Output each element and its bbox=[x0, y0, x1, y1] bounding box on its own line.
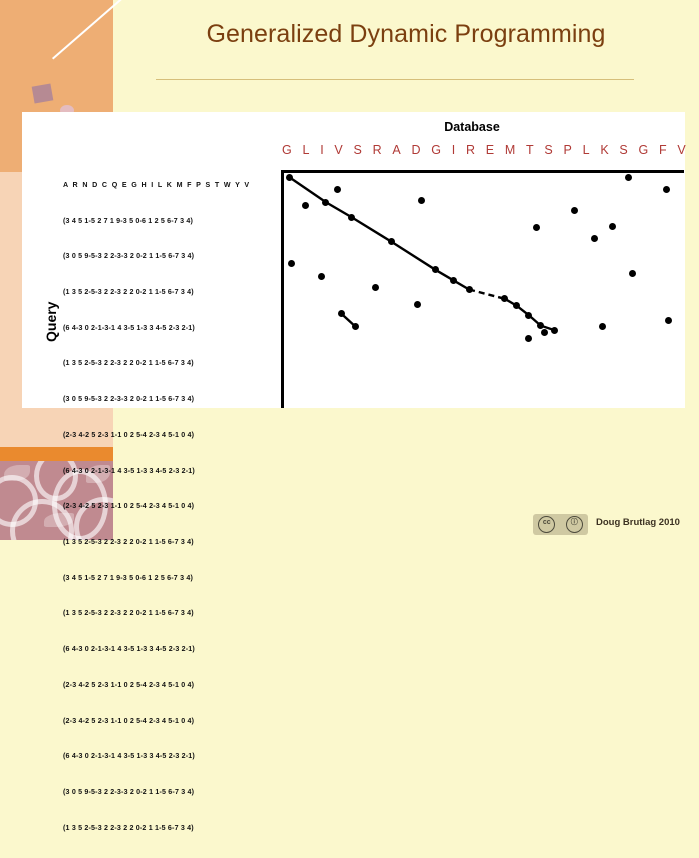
dot-plot-point bbox=[348, 214, 355, 221]
author-credit: Doug Brutlag 2010 bbox=[596, 517, 680, 528]
dot-plot-point bbox=[551, 327, 558, 334]
dot-plot-point bbox=[352, 323, 359, 330]
content-panel: Query A R N D C Q E G H I L K M F P S T … bbox=[22, 112, 685, 408]
dot-plot-point bbox=[466, 286, 473, 293]
dot-plot-point bbox=[533, 224, 540, 231]
dot-plot-point bbox=[599, 323, 606, 330]
title-underline-rule bbox=[156, 79, 634, 80]
cc-icon: cc bbox=[538, 516, 555, 533]
dot-plot-point bbox=[591, 235, 598, 242]
query-row: (1 3 5 2-5-3 2 2-3 2 2 0-2 1 1-5 6-7 3 4… bbox=[63, 823, 250, 835]
amino-acid-header: A R N D C Q E G H I L K M F P S T W Y V bbox=[63, 180, 250, 192]
dot-plot-point bbox=[288, 260, 295, 267]
query-row: (6 4-3 0 2-1-3-1 4 3-5 1-3 3 4-5 2-3 2-1… bbox=[63, 644, 250, 656]
dot-plot-point bbox=[541, 329, 548, 336]
dot-plot-point bbox=[302, 202, 309, 209]
dot-plot-point bbox=[450, 277, 457, 284]
dot-plot-point bbox=[432, 266, 439, 273]
dot-plot-point bbox=[286, 174, 293, 181]
dot-plot-point bbox=[609, 223, 616, 230]
dot-plot-point bbox=[372, 284, 379, 291]
query-row: (2-3 4-2 5 2-3 1-1 0 2 5-4 2-3 4 5-1 0 4… bbox=[63, 501, 250, 513]
dot-plot: Database GLIVSRADGIREMTSPLKSGFV bbox=[259, 112, 685, 408]
dot-plot-point bbox=[513, 302, 520, 309]
query-row: (3 0 5 9-5-3 2 2-3-3 2 0-2 1 1-5 6-7 3 4… bbox=[63, 251, 250, 263]
query-row: (3 4 5 1-5 2 7 1 9-3 5 0-6 1 2 5 6-7 3 4… bbox=[63, 216, 250, 228]
query-row: (3 0 5 9-5-3 2 2-3-3 2 0-2 1 1-5 6-7 3 4… bbox=[63, 394, 250, 406]
dot-plot-point bbox=[388, 238, 395, 245]
query-axis-label: Query bbox=[43, 302, 59, 342]
query-row: (1 3 5 2-5-3 2 2-3 2 2 0-2 1 1-5 6-7 3 4… bbox=[63, 608, 250, 620]
cc-by-icon: ⓘ bbox=[566, 516, 583, 533]
query-row: (2-3 4-2 5 2-3 1-1 0 2 5-4 2-3 4 5-1 0 4… bbox=[63, 716, 250, 728]
dot-plot-point bbox=[663, 186, 670, 193]
dot-plot-point bbox=[665, 317, 672, 324]
query-row: (2-3 4-2 5 2-3 1-1 0 2 5-4 2-3 4 5-1 0 4… bbox=[63, 430, 250, 442]
creative-commons-badge: cc ⓘ bbox=[533, 514, 588, 535]
query-row: (6 4-3 0 2-1-3-1 4 3-5 1-3 3 4-5 2-3 2-1… bbox=[63, 466, 250, 478]
dot-plot-point bbox=[537, 322, 544, 329]
dot-plot-point bbox=[322, 199, 329, 206]
query-sequence-matrix: A R N D C Q E G H I L K M F P S T W Y V … bbox=[63, 156, 250, 858]
query-row: (2-3 4-2 5 2-3 1-1 0 2 5-4 2-3 4 5-1 0 4… bbox=[63, 680, 250, 692]
dot-plot-point bbox=[625, 174, 632, 181]
dot-plot-point bbox=[629, 270, 636, 277]
query-row: (6 4-3 0 2-1-3-1 4 3-5 1-3 3 4-5 2-3 2-1… bbox=[63, 751, 250, 763]
query-row: (1 3 5 2-5-3 2 2-3 2 2 0-2 1 1-5 6-7 3 4… bbox=[63, 287, 250, 299]
slide-title: Generalized Dynamic Programming bbox=[113, 20, 699, 49]
query-row: (3 0 5 9-5-3 2 2-3-3 2 0-2 1 1-5 6-7 3 4… bbox=[63, 787, 250, 799]
dot-plot-point bbox=[525, 335, 532, 342]
dot-plot-point bbox=[338, 310, 345, 317]
query-row: (1 3 5 2-5-3 2 2-3 2 2 0-2 1 1-5 6-7 3 4… bbox=[63, 358, 250, 370]
query-row: (3 4 5 1-5 2 7 1 9-3 5 0-6 1 2 5 6-7 3 4… bbox=[63, 573, 250, 585]
pin-square-decoration bbox=[32, 83, 54, 103]
dot-plot-point bbox=[334, 186, 341, 193]
query-row: (6 4-3 0 2-1-3-1 4 3-5 1-3 3 4-5 2-3 2-1… bbox=[63, 323, 250, 335]
dot-plot-point bbox=[418, 197, 425, 204]
dot-plot-point bbox=[571, 207, 578, 214]
query-row: (1 3 5 2-5-3 2 2-3 2 2 0-2 1 1-5 6-7 3 4… bbox=[63, 537, 250, 549]
dot-plot-point bbox=[501, 295, 508, 302]
dot-plot-point bbox=[414, 301, 421, 308]
dot-plot-point bbox=[318, 273, 325, 280]
dot-plot-points bbox=[259, 112, 685, 408]
dot-plot-point bbox=[525, 312, 532, 319]
